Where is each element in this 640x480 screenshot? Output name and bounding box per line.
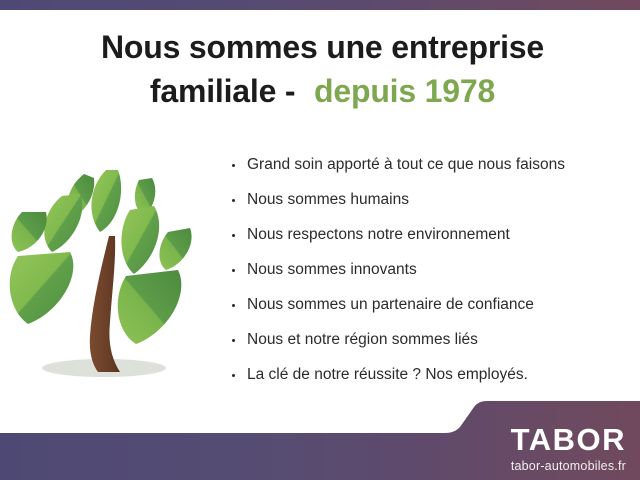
tree-trunk xyxy=(90,236,120,372)
list-item: Nous sommes un partenaire de confiance xyxy=(228,290,628,325)
list-item: Grand soin apporté à tout ce que nous fa… xyxy=(228,150,628,185)
band-shape xyxy=(0,401,640,480)
list-item: Nous sommes innovants xyxy=(228,255,628,290)
slide-canvas: Nous sommes une entreprise familiale - d… xyxy=(0,0,640,480)
tree-illustration xyxy=(8,152,218,390)
headline-line-1: Nous sommes une entreprise xyxy=(101,29,544,65)
page-title: Nous sommes une entreprise familiale - d… xyxy=(50,26,595,112)
value-bullet-list: Grand soin apporté à tout ce que nous fa… xyxy=(228,150,628,395)
headline-line-2: familiale - depuis 1978 xyxy=(50,70,595,112)
list-item: La clé de notre réussite ? Nos employés. xyxy=(228,360,628,395)
list-item: Nous respectons notre environnement xyxy=(228,220,628,255)
headline-line-2-prefix: familiale - xyxy=(150,73,295,109)
list-item: Nous et notre région sommes liés xyxy=(228,325,628,360)
top-accent-bar xyxy=(0,0,640,10)
list-item: Nous sommes humains xyxy=(228,185,628,220)
headline-accent-year: depuis 1978 xyxy=(314,73,495,109)
bottom-brand-band: TABOR tabor-automobiles.fr xyxy=(0,400,640,480)
